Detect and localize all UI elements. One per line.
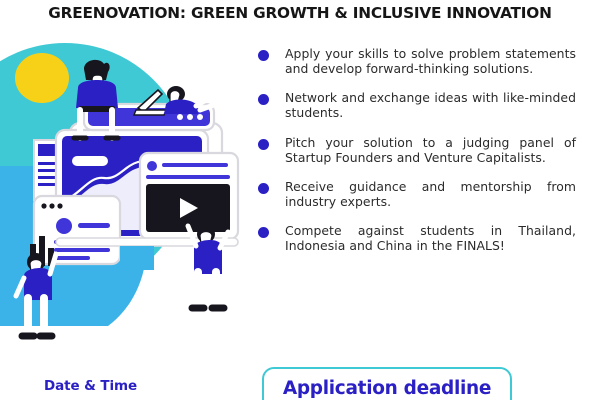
page-title: GREENOVATION: GREEN GROWTH & INCLUSIVE I… [0,4,600,22]
bullet-dot-icon [258,94,269,105]
list-item: Pitch your solution to a judging panel o… [258,135,576,165]
application-deadline-box[interactable]: Application deadline [262,367,512,400]
bullet-dot-icon [258,183,269,194]
bullet-dot-icon [258,227,269,238]
card-window [30,196,120,266]
yellow-sun-circle [15,53,69,103]
list-item-text: Compete against students in Thailand, In… [285,223,576,253]
application-deadline-label: Application deadline [283,378,491,399]
benefits-bullet-list: Apply your skills to solve problem state… [258,46,576,267]
list-item-text: Apply your skills to solve problem state… [285,46,576,76]
teamwork-dashboard-illustration [0,38,250,356]
list-item: Receive guidance and mentorship from ind… [258,179,576,209]
date-time-heading: Date & Time [44,378,137,394]
list-item-text: Pitch your solution to a judging panel o… [285,135,576,165]
list-item: Network and exchange ideas with like-min… [258,90,576,120]
poster-canvas: GREENOVATION: GREEN GROWTH & INCLUSIVE I… [0,0,600,400]
list-item: Compete against students in Thailand, In… [258,223,576,253]
bullet-dot-icon [258,50,269,61]
bullet-dot-icon [258,139,269,150]
list-item: Apply your skills to solve problem state… [258,46,576,76]
list-item-text: Receive guidance and mentorship from ind… [285,179,576,209]
list-item-text: Network and exchange ideas with like-min… [285,90,576,120]
